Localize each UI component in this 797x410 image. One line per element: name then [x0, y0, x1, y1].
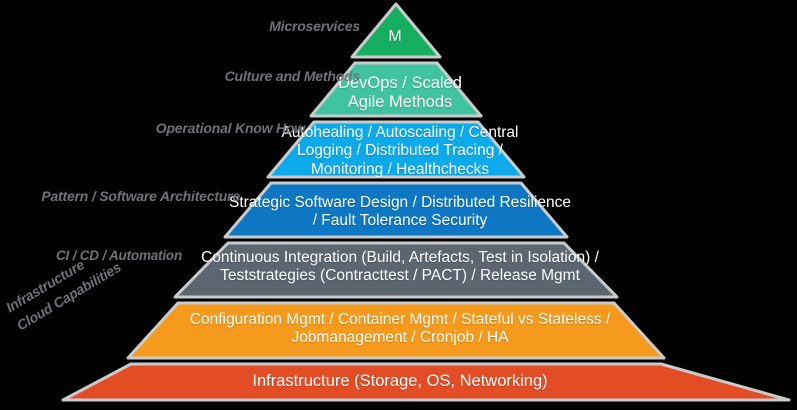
- side-label-operational-know-how: Operational Know How: [60, 120, 305, 136]
- side-label-pattern-software-architecture: Pattern / Software Architecture: [0, 188, 240, 204]
- diagram-canvas: M DevOps / Scaled Agile Methods Autoheal…: [0, 0, 797, 410]
- pyramid-band-operational-know-how[interactable]: [268, 122, 524, 177]
- side-label-microservices: Microservices: [180, 18, 360, 34]
- pyramid-band-infrastructure[interactable]: [63, 364, 789, 400]
- pyramid-band-microservices[interactable]: [352, 4, 440, 57]
- pyramid-band-ci-cd-automation[interactable]: [175, 243, 617, 297]
- side-label-culture-and-methods: Culture and Methods: [120, 68, 360, 84]
- pyramid-band-pattern-software-architecture[interactable]: [225, 183, 567, 237]
- pyramid-band-infrastructure-cloud-capabilities[interactable]: [128, 303, 664, 358]
- pyramid-graphic: [0, 0, 797, 410]
